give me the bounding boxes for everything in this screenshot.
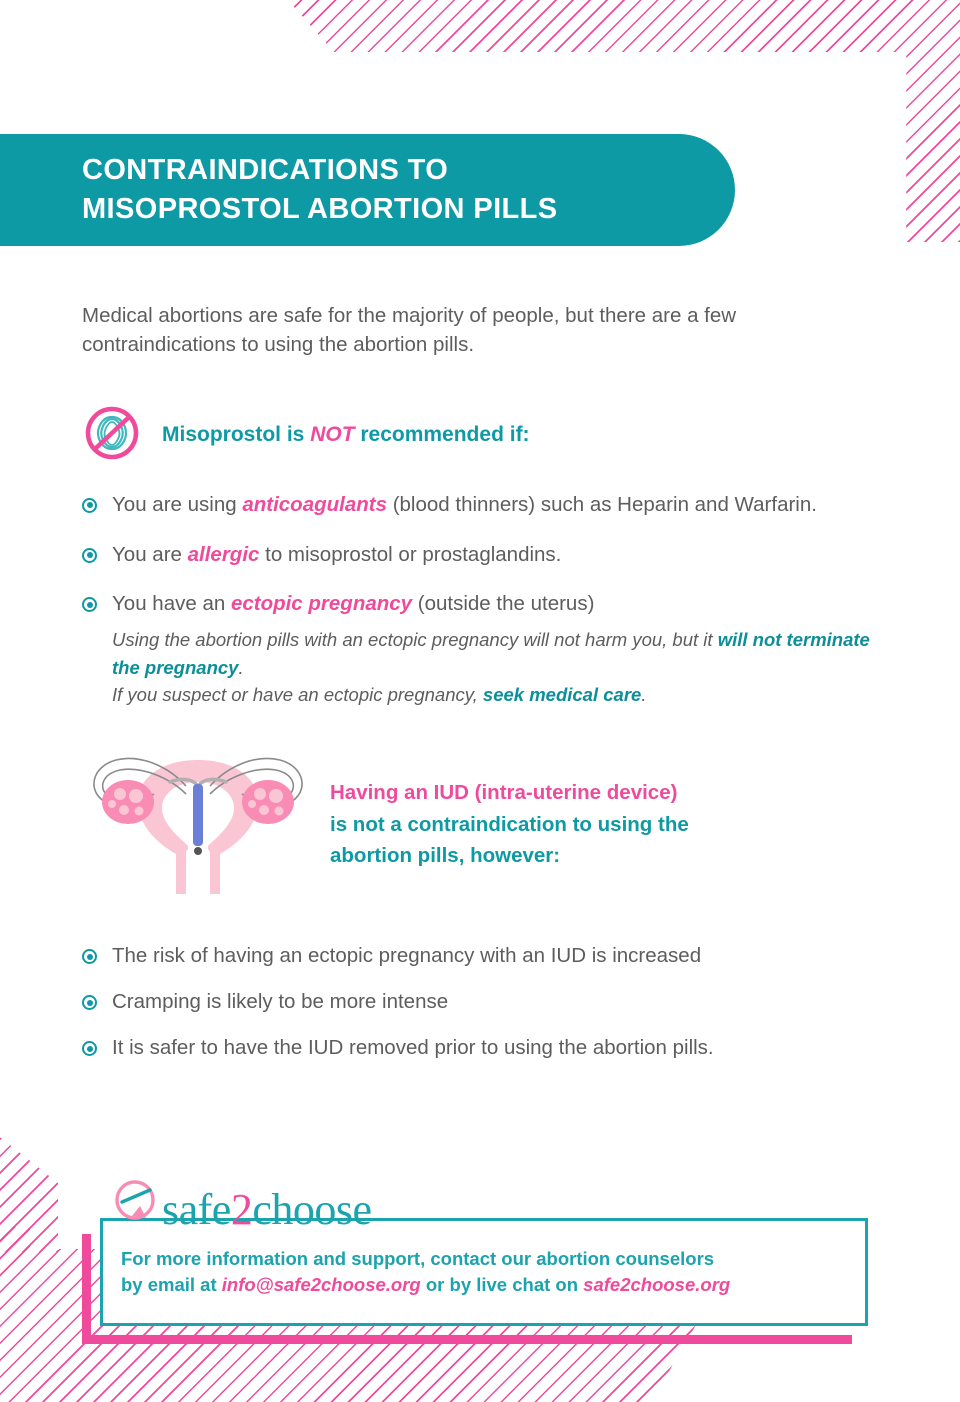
list-item: The risk of having an ectopic pregnancy … [82, 942, 882, 970]
bullet-text-post: to misoprostol or prostaglandins. [259, 543, 561, 566]
contact-line-2-mid: or by live chat on [421, 1274, 583, 1295]
note-part-2: . [238, 657, 243, 678]
heading-text-post: recommended if: [355, 423, 530, 446]
uterus-with-iud-illustration [82, 742, 314, 906]
contact-box: For more information and support, contac… [82, 1218, 882, 1358]
bullet-text-emphasis: ectopic pregnancy [231, 592, 412, 615]
note-part-3: If you suspect or have an ectopic pregna… [112, 684, 483, 705]
bullet-text-pre: You are using [112, 493, 242, 516]
heading-text-emphasis: NOT [310, 423, 354, 446]
safe2choose-logo-mark [110, 1176, 162, 1232]
page-title-line-1: CONTRAINDICATIONS TO [82, 151, 735, 190]
logo-word-b: choose [252, 1185, 371, 1234]
logo-word-a: safe [162, 1185, 231, 1234]
safe2choose-wordmark: safe2choose [162, 1188, 372, 1232]
contact-line-2-pre: by email at [121, 1274, 222, 1295]
contact-line-2: by email at info@safe2choose.org or by l… [121, 1272, 730, 1298]
note-part-1: Using the abortion pills with an ectopic… [112, 629, 718, 650]
bullet-icon [82, 498, 97, 513]
contact-email[interactable]: info@safe2choose.org [222, 1274, 421, 1295]
bullet-text-post: (outside the uterus) [412, 592, 594, 615]
intro-paragraph: Medical abortions are safe for the major… [82, 301, 882, 359]
logo-word-two: 2 [231, 1185, 253, 1234]
note-part-4: . [641, 684, 646, 705]
main-content: Medical abortions are safe for the major… [82, 280, 882, 1080]
iud-section: Having an IUD (intra-uterine device) is … [82, 742, 882, 906]
not-recommended-list: You are using anticoagulants (blood thin… [82, 491, 882, 619]
safe2choose-logo[interactable]: safe2choose [110, 1180, 882, 1232]
footer: safe2choose For more information and sup… [82, 1180, 882, 1358]
iud-heading-line-3: abortion pills, however: [330, 840, 689, 872]
bullet-text: Cramping is likely to be more intense [112, 990, 448, 1013]
not-recommended-heading: Misoprostol is NOT recommended if: [162, 423, 530, 447]
contact-line-1: For more information and support, contac… [121, 1246, 730, 1272]
bullet-text-post: (blood thinners) such as Heparin and War… [387, 493, 817, 516]
bullet-icon [82, 949, 97, 964]
contact-text: For more information and support, contac… [121, 1246, 730, 1299]
bullet-text: It is safer to have the IUD removed prio… [112, 1036, 714, 1059]
iud-heading-line-1: Having an IUD (intra-uterine device) [330, 777, 689, 809]
bullet-icon [82, 995, 97, 1010]
list-item: It is safer to have the IUD removed prio… [82, 1034, 882, 1062]
not-recommended-heading-row: Misoprostol is NOT recommended if: [82, 403, 882, 467]
decorative-hatch-left [0, 1137, 58, 1252]
heading-text-pre: Misoprostol is [162, 423, 310, 446]
iud-considerations-list: The risk of having an ectopic pregnancy … [82, 942, 882, 1062]
no-pill-icon [82, 403, 142, 467]
bullet-text: The risk of having an ectopic pregnancy … [112, 944, 701, 967]
bullet-text-pre: You have an [112, 592, 231, 615]
contact-website[interactable]: safe2choose.org [583, 1274, 730, 1295]
ectopic-pregnancy-note: Using the abortion pills with an ectopic… [112, 626, 872, 708]
bullet-icon [82, 548, 97, 563]
iud-heading: Having an IUD (intra-uterine device) is … [330, 777, 689, 872]
bullet-text-emphasis: anticoagulants [242, 493, 387, 516]
page-title-banner: CONTRAINDICATIONS TO MISOPROSTOL ABORTIO… [0, 134, 735, 246]
iud-heading-line-2: is not a contraindication to using the [330, 809, 689, 841]
page-title-line-2: MISOPROSTOL ABORTION PILLS [82, 190, 735, 229]
note-emphasis-2: seek medical care [483, 684, 641, 705]
contact-box-teal-frame: For more information and support, contac… [100, 1218, 868, 1326]
bullet-text-pre: You are [112, 543, 188, 566]
bullet-icon [82, 1041, 97, 1056]
bullet-text-emphasis: allergic [188, 543, 260, 566]
list-item: Cramping is likely to be more intense [82, 988, 882, 1016]
bullet-icon [82, 597, 97, 612]
list-item: You are using anticoagulants (blood thin… [82, 491, 882, 519]
list-item: You have an ectopic pregnancy (outside t… [82, 590, 882, 618]
list-item: You are allergic to misoprostol or prost… [82, 541, 882, 569]
